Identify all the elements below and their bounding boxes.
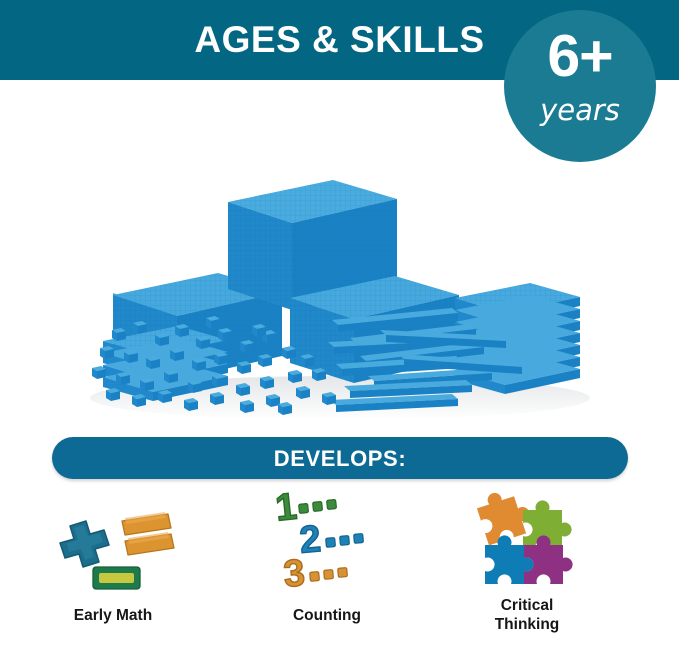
develops-banner: DEVELOPS:: [52, 437, 628, 479]
equals-symbol: [122, 512, 174, 555]
math-symbols-icon: [0, 488, 226, 596]
age-badge: 6+ years: [504, 10, 656, 162]
infographic-page: AGES & SKILLS 6+ years: [0, 0, 679, 655]
plus-symbol: [60, 521, 109, 567]
develops-label: DEVELOPS:: [52, 446, 628, 472]
numbers-123-icon: 1 2 3: [214, 488, 440, 596]
svg-text:1: 1: [273, 488, 298, 530]
skill-critical-thinking: Critical Thinking: [414, 488, 640, 655]
skill-label-line1: Critical: [501, 597, 554, 614]
skill-counting: 1 2 3: [214, 488, 440, 655]
skills-row: Early Math 1 2: [0, 488, 679, 655]
age-badge-value: 6+: [504, 27, 656, 86]
skill-label-line2: Thinking: [495, 616, 560, 633]
minus-symbol: [93, 567, 140, 589]
age-badge-unit: years: [504, 93, 656, 127]
skill-early-math: Early Math: [0, 488, 226, 655]
skill-label-counting: Counting: [214, 606, 440, 625]
puzzle-pieces-icon: [414, 488, 640, 588]
numeral-two-group: 2: [298, 518, 364, 562]
svg-text:3: 3: [282, 552, 307, 593]
skill-label-early-math: Early Math: [0, 606, 226, 625]
skill-label-critical-thinking: Critical Thinking: [414, 596, 640, 634]
